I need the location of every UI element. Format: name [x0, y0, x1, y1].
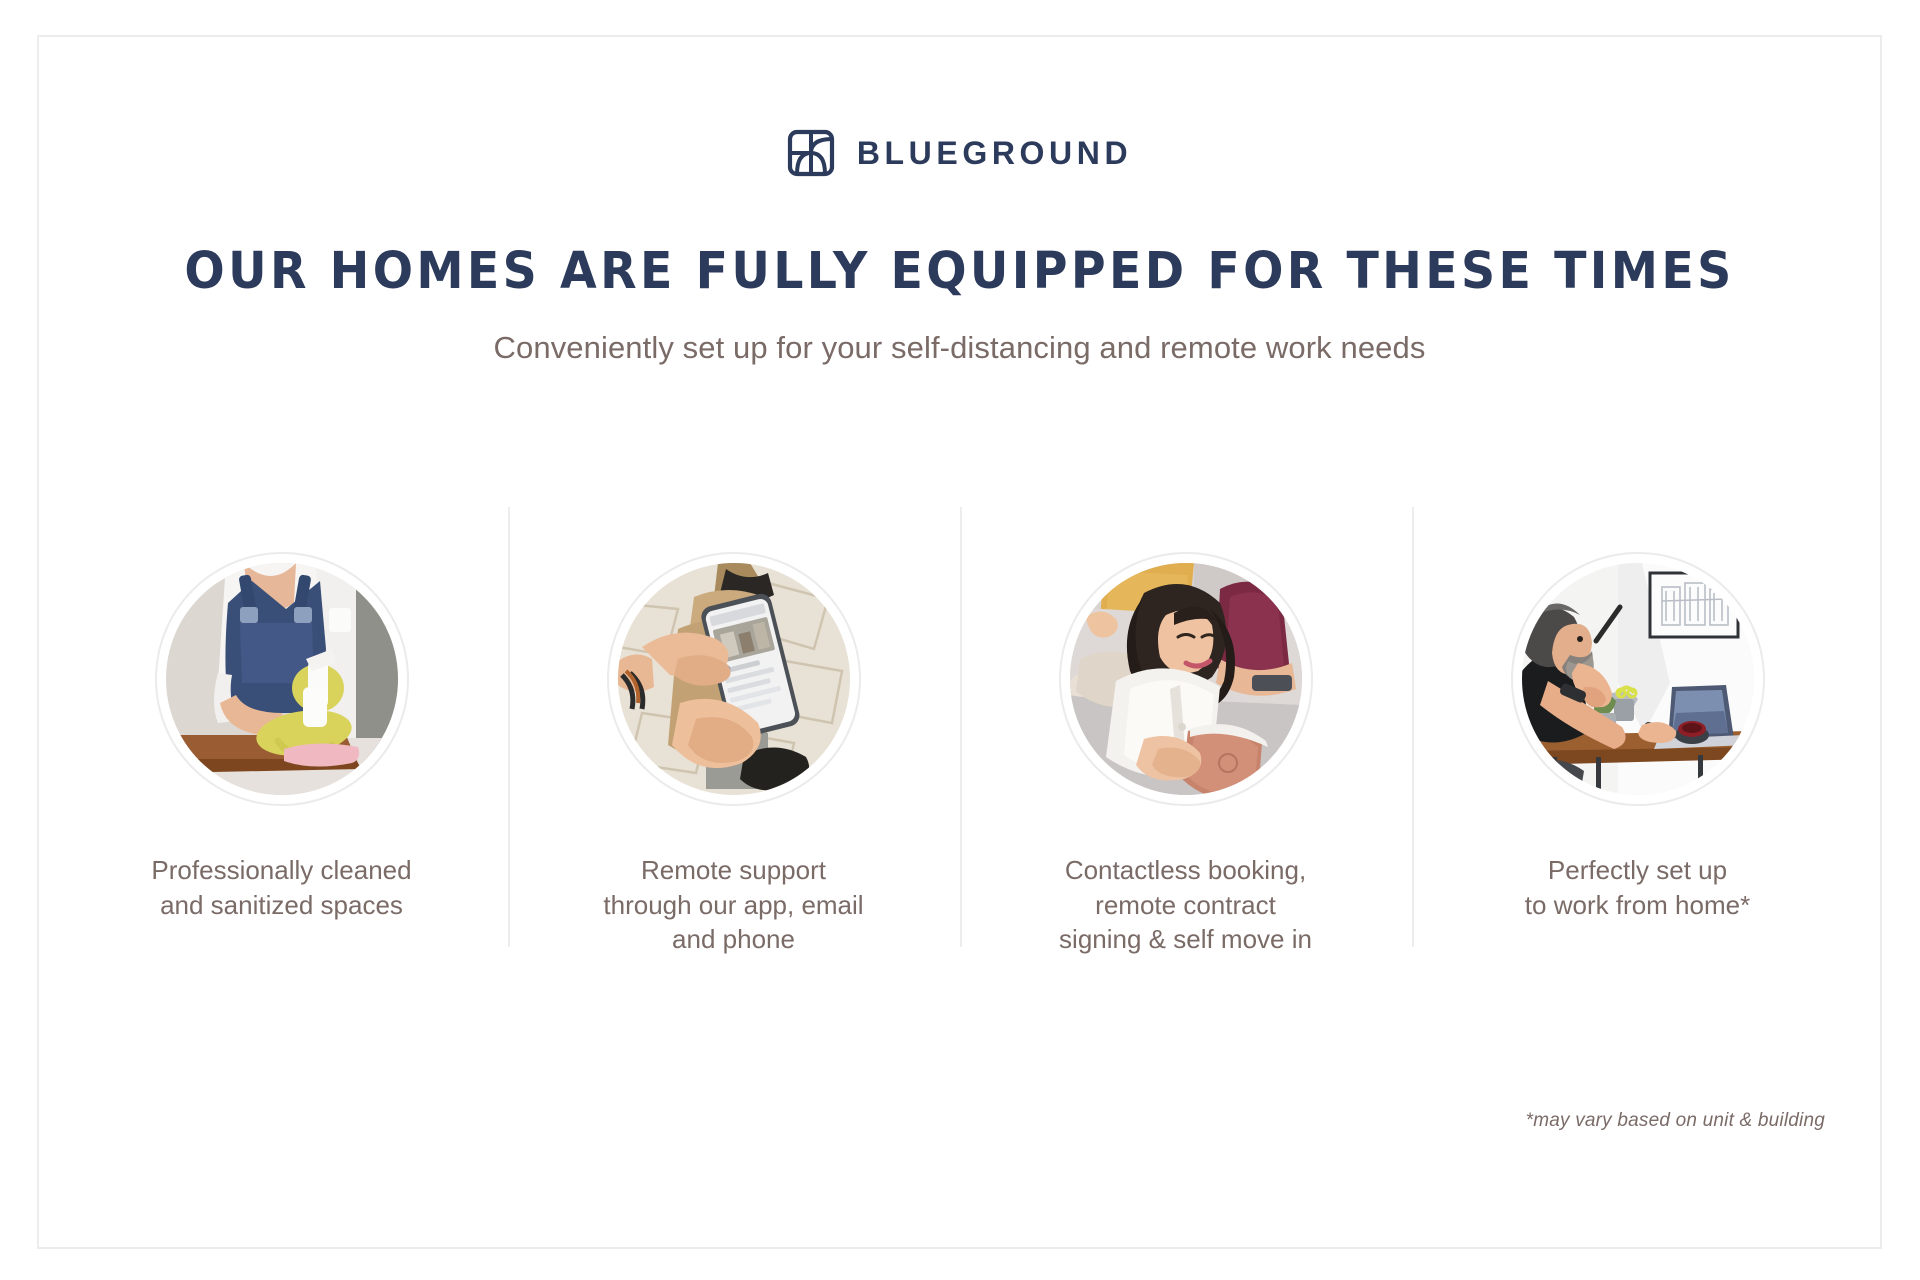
poster-frame: BLUEGROUND OUR HOMES ARE FULLY EQUIPPED … [37, 35, 1882, 1249]
blueground-square-mark-icon [787, 129, 835, 177]
photo-ring [155, 552, 409, 806]
page-subtitle: Conveniently set up for your self-distan… [39, 329, 1880, 366]
photo-ring [607, 552, 861, 806]
cleaning-person-photo [166, 563, 398, 795]
photo-ring [1059, 552, 1313, 806]
brand-name: BLUEGROUND [857, 137, 1132, 169]
brand-lockup: BLUEGROUND [39, 129, 1880, 177]
photo-ring [1511, 552, 1765, 806]
man-working-from-home-photo [1522, 563, 1754, 795]
phone-in-hands-photo [618, 563, 850, 795]
feature-caption: Perfectly set up to work from home* [1473, 853, 1803, 922]
footnote: *may vary based on unit & building [1526, 1110, 1825, 1132]
feature-column-contactless-booking: Contactless booking, remote contract sig… [960, 507, 1412, 957]
feature-column-remote-support: Remote support through our app, email an… [508, 507, 960, 957]
woman-with-tablet-photo [1070, 563, 1302, 795]
feature-caption: Contactless booking, remote contract sig… [1021, 853, 1351, 957]
feature-caption: Remote support through our app, email an… [569, 853, 899, 957]
feature-column-work-from-home: Perfectly set up to work from home* [1412, 507, 1864, 922]
feature-columns: Professionally cleaned and sanitized spa… [39, 507, 1880, 957]
feature-column-cleaning: Professionally cleaned and sanitized spa… [56, 507, 508, 922]
feature-caption: Professionally cleaned and sanitized spa… [117, 853, 447, 922]
page-title: OUR HOMES ARE FULLY EQUIPPED FOR THESE T… [103, 245, 1815, 299]
